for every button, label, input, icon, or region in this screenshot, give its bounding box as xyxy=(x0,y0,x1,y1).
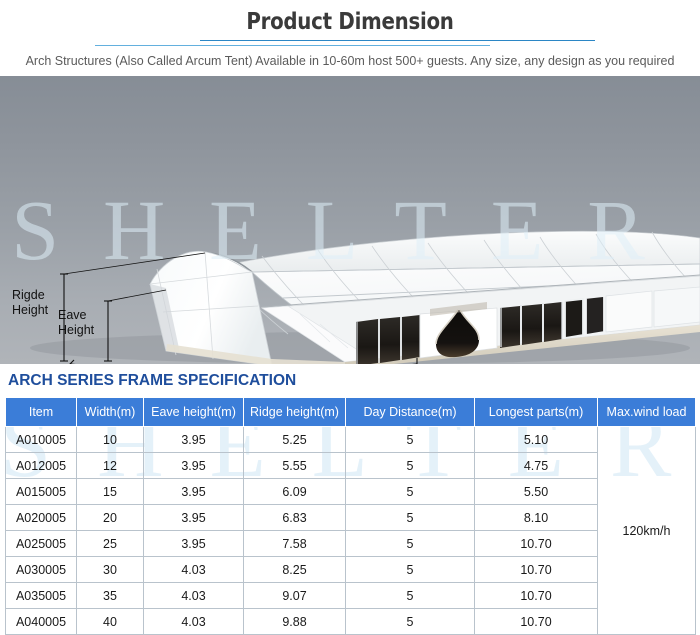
col-width: Width(m) xyxy=(77,398,144,427)
spec-title: ARCH SERIES FRAME SPECIFICATION xyxy=(0,364,700,397)
cell-item: A012005 xyxy=(6,453,77,479)
spec-table-head: Item Width(m) Eave height(m) Ridge heigh… xyxy=(6,398,696,427)
spec-section: ARCH SERIES FRAME SPECIFICATION SHELTER … xyxy=(0,364,700,635)
tent-illustration xyxy=(0,76,700,364)
table-row: A012005 12 3.95 5.55 5 4.75 xyxy=(6,453,696,479)
cell-longest: 10.70 xyxy=(475,557,598,583)
cell-longest: 10.70 xyxy=(475,609,598,635)
cell-item: A030005 xyxy=(6,557,77,583)
header-rule-upper xyxy=(200,40,595,41)
sidewall-panel-right-2 xyxy=(654,287,700,327)
col-max-wind-load: Max.wind load xyxy=(598,398,696,427)
cell-max-wind-load: 120km/h xyxy=(598,427,696,635)
cell-width: 25 xyxy=(77,531,144,557)
cell-day: 5 xyxy=(346,479,475,505)
page-subtitle: Arch Structures (Also Called Arcum Tent)… xyxy=(0,54,700,68)
cell-ridge: 6.83 xyxy=(244,505,346,531)
page-header: Product Dimension Arch Structures (Also … xyxy=(0,0,700,76)
col-ridge-height: Ridge height(m) xyxy=(244,398,346,427)
cell-eave: 4.03 xyxy=(144,609,244,635)
table-row: A010005 10 3.95 5.25 5 5.10 120km/h xyxy=(6,427,696,453)
cell-width: 20 xyxy=(77,505,144,531)
cell-day: 5 xyxy=(346,531,475,557)
cell-day: 5 xyxy=(346,453,475,479)
cell-ridge: 8.25 xyxy=(244,557,346,583)
page-title: Product Dimension xyxy=(49,0,651,35)
cell-day: 5 xyxy=(346,557,475,583)
table-row: A035005 35 4.03 9.07 5 10.70 xyxy=(6,583,696,609)
table-header-row: Item Width(m) Eave height(m) Ridge heigh… xyxy=(6,398,696,427)
glass-door-open-2 xyxy=(586,296,604,335)
cell-longest: 5.10 xyxy=(475,427,598,453)
glass-wall-left xyxy=(356,315,420,364)
cell-eave: 3.95 xyxy=(144,505,244,531)
cell-day: 5 xyxy=(346,583,475,609)
cell-day: 5 xyxy=(346,609,475,635)
label-eave-height-line2: Height xyxy=(58,323,94,338)
cell-longest: 10.70 xyxy=(475,583,598,609)
spec-table: Item Width(m) Eave height(m) Ridge heigh… xyxy=(5,397,696,635)
header-rule-lower xyxy=(95,45,490,46)
cell-ridge: 5.25 xyxy=(244,427,346,453)
cell-longest: 4.75 xyxy=(475,453,598,479)
cell-eave: 4.03 xyxy=(144,557,244,583)
cell-item: A035005 xyxy=(6,583,77,609)
label-ridge-height-line2: Height xyxy=(12,303,48,318)
cell-item: A020005 xyxy=(6,505,77,531)
cell-day: 5 xyxy=(346,427,475,453)
col-item: Item xyxy=(6,398,77,427)
cell-width: 15 xyxy=(77,479,144,505)
cell-item: A010005 xyxy=(6,427,77,453)
glass-door-open-1 xyxy=(565,299,583,338)
cell-width: 40 xyxy=(77,609,144,635)
cell-eave: 4.03 xyxy=(144,583,244,609)
col-day-distance: Day Distance(m) xyxy=(346,398,475,427)
cell-eave: 3.95 xyxy=(144,427,244,453)
cell-ridge: 9.07 xyxy=(244,583,346,609)
cell-longest: 8.10 xyxy=(475,505,598,531)
cell-width: 35 xyxy=(77,583,144,609)
cell-longest: 5.50 xyxy=(475,479,598,505)
cell-day: 5 xyxy=(346,505,475,531)
cell-width: 30 xyxy=(77,557,144,583)
cell-ridge: 7.58 xyxy=(244,531,346,557)
cell-item: A025005 xyxy=(6,531,77,557)
label-eave-height-line1: Eave xyxy=(58,308,94,323)
cell-eave: 3.95 xyxy=(144,479,244,505)
cell-item: A040005 xyxy=(6,609,77,635)
cell-ridge: 9.88 xyxy=(244,609,346,635)
label-eave-height: Eave Height xyxy=(58,308,94,338)
label-ridge-height-line1: Rigde xyxy=(12,288,48,303)
col-eave-height: Eave height(m) xyxy=(144,398,244,427)
col-longest-parts: Longest parts(m) xyxy=(475,398,598,427)
table-row: A040005 40 4.03 9.88 5 10.70 xyxy=(6,609,696,635)
table-row: A030005 30 4.03 8.25 5 10.70 xyxy=(6,557,696,583)
label-ridge-height: Rigde Height xyxy=(12,288,48,318)
spec-table-body: A010005 10 3.95 5.25 5 5.10 120km/h A012… xyxy=(6,427,696,635)
cell-eave: 3.95 xyxy=(144,531,244,557)
cell-eave: 3.95 xyxy=(144,453,244,479)
table-row: A015005 15 3.95 6.09 5 5.50 xyxy=(6,479,696,505)
cell-width: 10 xyxy=(77,427,144,453)
sidewall-panel-right-1 xyxy=(606,291,652,332)
cell-ridge: 6.09 xyxy=(244,479,346,505)
cell-item: A015005 xyxy=(6,479,77,505)
table-row: A020005 20 3.95 6.83 5 8.10 xyxy=(6,505,696,531)
product-render: SHELTER Rigde Height Eave Height Wdith B… xyxy=(0,76,700,364)
table-row: A025005 25 3.95 7.58 5 10.70 xyxy=(6,531,696,557)
cell-ridge: 5.55 xyxy=(244,453,346,479)
cell-width: 12 xyxy=(77,453,144,479)
cell-longest: 10.70 xyxy=(475,531,598,557)
